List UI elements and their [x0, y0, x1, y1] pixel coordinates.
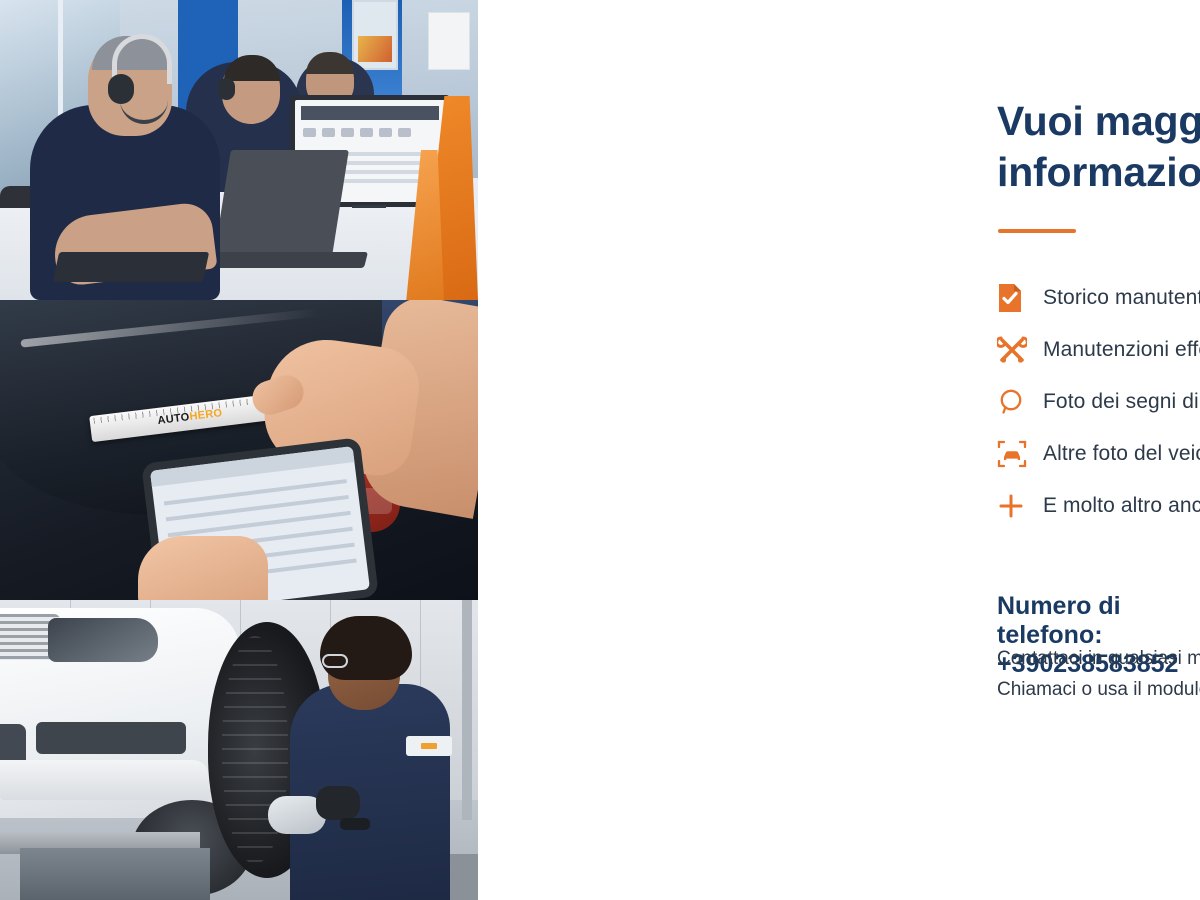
wheel-service-photo	[0, 600, 478, 900]
plus-icon	[997, 492, 1043, 520]
crossed-tools-icon	[997, 335, 1043, 365]
feature-item-foto-segni-usura: Foto dei segni di usura	[997, 376, 1200, 428]
feature-item-altre-foto-veicolo: Altre foto del veicolo	[997, 428, 1200, 480]
feature-label: Altre foto del veicolo	[1043, 442, 1200, 466]
contact-description-line-2: Chiamaci o usa il modulo di contatto.	[997, 675, 1200, 706]
feature-label: Storico manutentivo	[1043, 286, 1200, 310]
feature-item-molto-altro: E molto altro ancora	[997, 480, 1200, 532]
photo-column: AUTOHERO	[0, 0, 478, 900]
feature-list: Storico manutentivo Manutenzi	[997, 272, 1200, 532]
feature-label: Foto dei segni di usura	[1043, 390, 1200, 414]
promo-banner: AUTOHERO	[0, 0, 1200, 900]
document-check-icon	[997, 283, 1043, 313]
feature-label: E molto altro ancora	[1043, 494, 1200, 518]
feature-item-manutenzioni-effettuate: Manutenzioni effettuate	[997, 324, 1200, 376]
content-panel: Vuoi maggiori informazioni su ? Storico …	[478, 0, 1200, 900]
feature-label: Manutenzioni effettuate	[1043, 338, 1200, 362]
magnifier-icon	[997, 388, 1043, 416]
vehicle-inspection-photo: AUTOHERO	[0, 300, 478, 600]
feature-item-storico-manutentivo: Storico manutentivo	[997, 272, 1200, 324]
headline-line-2: informazioni su ?	[997, 147, 1200, 198]
call-center-agents-photo	[0, 0, 478, 300]
page-title: Vuoi maggiori informazioni su ?	[997, 96, 1200, 199]
contact-description: Contattaci in qualsiasi momento per ulte…	[997, 644, 1200, 706]
contact-description-line-1: Contattaci in qualsiasi momento per ulte…	[997, 644, 1200, 675]
headline-line-1: Vuoi maggiori	[997, 96, 1200, 147]
car-scan-icon	[997, 439, 1043, 469]
title-underline-rule	[998, 229, 1076, 233]
